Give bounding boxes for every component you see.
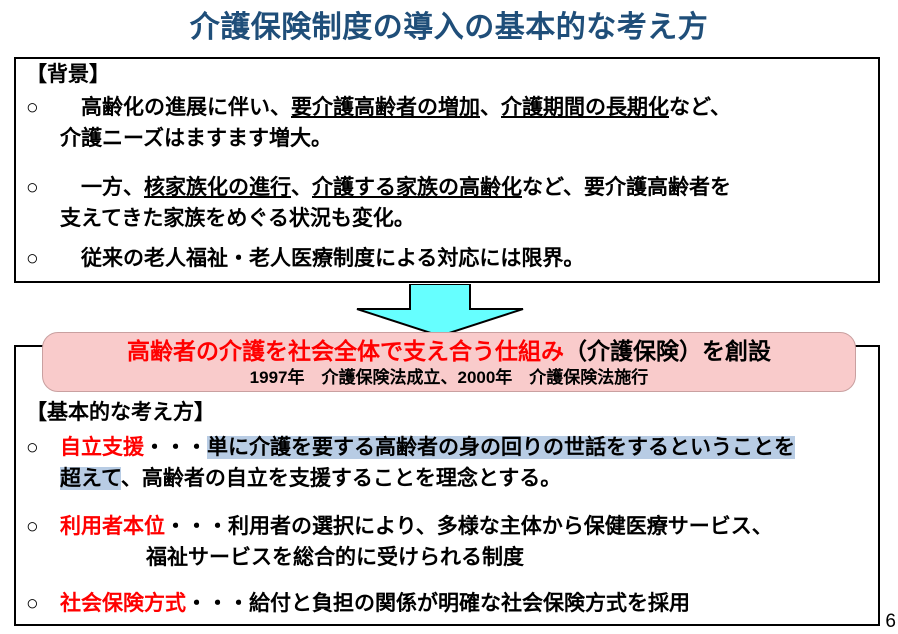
- concept-bullet-2: ○ 利用者本位・・・利用者の選択により、多様な主体から保健医療サービス、 福祉サ…: [26, 511, 871, 573]
- bullet-1-line1-mid: 、: [480, 96, 501, 119]
- background-heading: 【背景】: [26, 62, 110, 88]
- concept-bullet-3-term: 社会保険方式: [60, 592, 186, 615]
- background-bullet-2-text: 一方、核家族化の進行、介護する家族の高齢化など、要介護高齢者を 支えてきた家族を…: [60, 172, 866, 234]
- bullet-2-underline-1: 核家族化の進行: [144, 176, 291, 199]
- concept-callout-headline-red: 高齢者の介護を社会全体で支え合う仕組み: [127, 338, 564, 364]
- background-bullet-1-text: 高齢化の進展に伴い、要介護高齢者の増加、介護期間の長期化など、 介護ニーズはます…: [60, 92, 866, 154]
- bullet-circle-icon: ○: [26, 92, 60, 123]
- bullet-circle-icon: ○: [26, 511, 60, 542]
- concept-heading: 【基本的な考え方】: [26, 400, 215, 426]
- concept-bullet-2-line1: 利用者の選択により、多様な主体から保健医療サービス、: [228, 515, 773, 538]
- slide-canvas: 介護保険制度の導入の基本的な考え方 【背景】 ○ 高齢化の進展に伴い、要介護高齢…: [0, 0, 898, 634]
- concept-bullet-3-sep: ・・・: [186, 592, 249, 615]
- down-arrow-icon: [355, 284, 525, 338]
- concept-bullet-1-line2-highlight: 超えて: [60, 467, 121, 490]
- concept-bullet-1-text: 自立支援・・・単に介護を要する高齢者の身の回りの世話をするということを 超えて、…: [60, 432, 871, 494]
- bullet-circle-icon: ○: [26, 588, 60, 619]
- background-bullet-3-text: 従来の老人福祉・老人医療制度による対応には限界。: [60, 243, 866, 274]
- concept-bullet-1-line2-rest: 、高齢者の自立を支援することを理念とする。: [121, 467, 561, 490]
- concept-bullet-1-sep: ・・・: [144, 436, 207, 459]
- concept-bullet-3-line1: 給付と負担の関係が明確な社会保険方式を採用: [249, 592, 690, 615]
- bullet-2-underline-2: 介護する家族の高齢化: [312, 176, 522, 199]
- bullet-circle-icon: ○: [26, 172, 60, 203]
- concept-bullet-3-text: 社会保険方式・・・給付と負担の関係が明確な社会保険方式を採用: [60, 588, 871, 619]
- background-bullet-2: ○ 一方、核家族化の進行、介護する家族の高齢化など、要介護高齢者を 支えてきた家…: [26, 172, 866, 234]
- bullet-1-underline-2: 介護期間の長期化: [501, 96, 669, 119]
- bullet-2-line1-post: など、要介護高齢者を: [522, 176, 731, 199]
- background-bullet-1: ○ 高齢化の進展に伴い、要介護高齢者の増加、介護期間の長期化など、 介護ニーズは…: [26, 92, 866, 154]
- bullet-1-line1-pre: 高齢化の進展に伴い、: [60, 96, 291, 119]
- concept-bullet-2-term: 利用者本位: [60, 515, 165, 538]
- concept-bullet-2-sep: ・・・: [165, 515, 228, 538]
- bullet-2-line1-pre: 一方、: [60, 176, 144, 199]
- bullet-2-line2: 支えてきた家族をめぐる状況も変化。: [60, 207, 415, 230]
- concept-bullet-2-text: 利用者本位・・・利用者の選択により、多様な主体から保健医療サービス、 福祉サービ…: [60, 511, 871, 573]
- page-number: 6: [885, 612, 896, 632]
- concept-bullet-1: ○ 自立支援・・・単に介護を要する高齢者の身の回りの世話をするということを 超え…: [26, 432, 871, 494]
- bullet-circle-icon: ○: [26, 432, 60, 463]
- concept-bullet-3: ○ 社会保険方式・・・給付と負担の関係が明確な社会保険方式を採用: [26, 588, 871, 619]
- concept-callout-headline: 高齢者の介護を社会全体で支え合う仕組み（介護保険）を創設: [43, 336, 855, 366]
- concept-bullet-2-line2: 福祉サービスを総合的に受けられる制度: [60, 542, 871, 573]
- concept-callout-subline: 1997年 介護保険法成立、2000年 介護保険法施行: [43, 366, 855, 390]
- background-bullet-3: ○ 従来の老人福祉・老人医療制度による対応には限界。: [26, 243, 866, 274]
- concept-callout-headline-black: （介護保険）を創設: [564, 338, 771, 364]
- bullet-1-line2: 介護ニーズはますます増大。: [60, 127, 332, 150]
- bullet-1-line1-post: など、: [669, 96, 731, 119]
- bullet-2-line1-mid: 、: [291, 176, 312, 199]
- concept-bullet-1-term: 自立支援: [60, 436, 144, 459]
- concept-callout: 高齢者の介護を社会全体で支え合う仕組み（介護保険）を創設 1997年 介護保険法…: [42, 332, 856, 392]
- bullet-circle-icon: ○: [26, 243, 60, 274]
- concept-bullet-1-line1-highlight: 単に介護を要する高齢者の身の回りの世話をするということを: [207, 436, 795, 459]
- page-title: 介護保険制度の導入の基本的な考え方: [0, 8, 898, 48]
- bullet-1-underline-1: 要介護高齢者の増加: [291, 96, 480, 119]
